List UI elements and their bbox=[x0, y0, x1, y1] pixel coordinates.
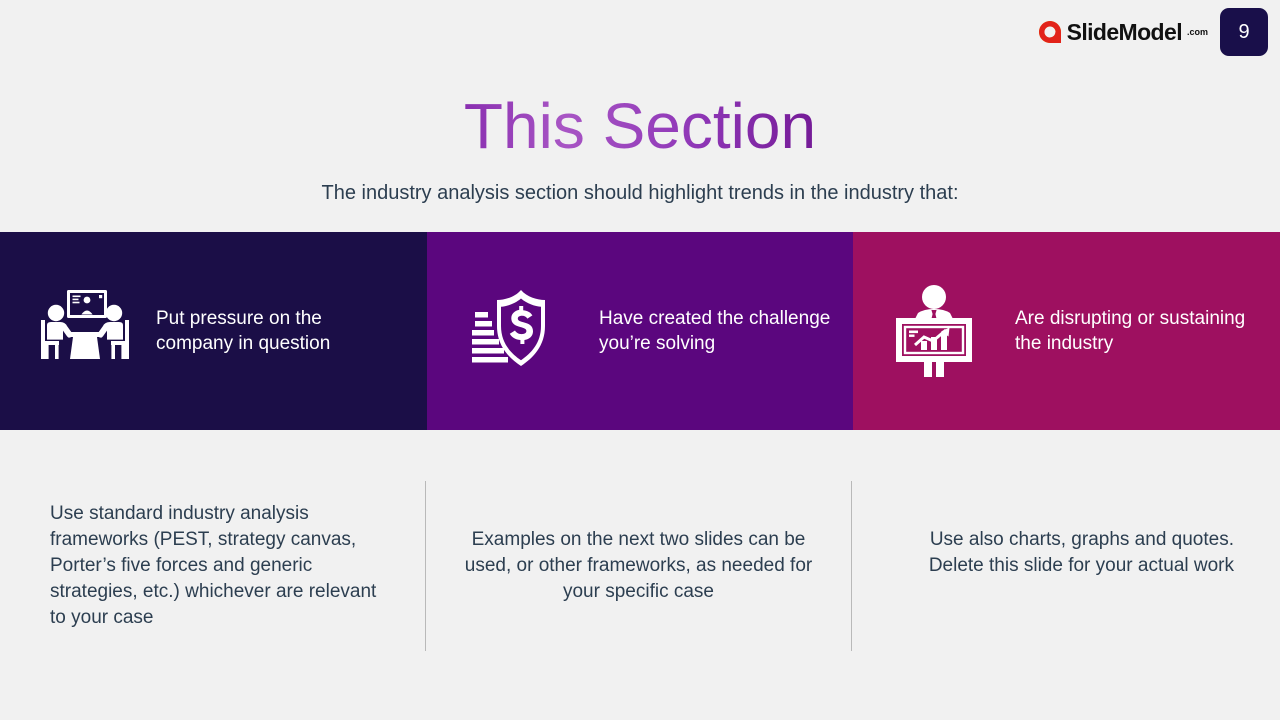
slide-canvas: SlideModel .com 9 This Section The indus… bbox=[0, 0, 1280, 720]
panel-challenge-label: Have created the challenge you’re solvin… bbox=[599, 306, 839, 356]
logo-domain-suffix: .com bbox=[1187, 27, 1208, 37]
page-subtitle: The industry analysis section should hig… bbox=[0, 179, 1280, 207]
shield-dollar-icon bbox=[467, 285, 565, 377]
page-title: This Section bbox=[0, 90, 1280, 162]
panel-row: Put pressure on the company in question bbox=[0, 232, 1280, 430]
notes-row: Use standard industry analysis framework… bbox=[0, 481, 1280, 651]
note-text-frameworks: Use standard industry analysis framework… bbox=[50, 501, 395, 631]
logo-wordmark: SlideModel bbox=[1067, 21, 1182, 44]
note-column-frameworks: Use standard industry analysis framework… bbox=[0, 481, 426, 651]
presenter-chart-board-icon bbox=[885, 285, 983, 377]
panel-disrupting[interactable]: Are disrupting or sustaining the industr… bbox=[853, 232, 1280, 430]
panel-pressure[interactable]: Put pressure on the company in question bbox=[0, 232, 427, 430]
note-text-examples: Examples on the next two slides can be u… bbox=[460, 527, 817, 605]
note-column-examples: Examples on the next two slides can be u… bbox=[426, 481, 852, 651]
panel-disrupting-label: Are disrupting or sustaining the industr… bbox=[1015, 306, 1255, 356]
panel-pressure-label: Put pressure on the company in question bbox=[156, 306, 396, 356]
note-text-charts: Use also charts, graphs and quotes. Dele… bbox=[886, 527, 1234, 579]
slidemodel-circle-mark-icon bbox=[1037, 19, 1063, 45]
note-column-charts: Use also charts, graphs and quotes. Dele… bbox=[852, 481, 1278, 651]
panel-challenge[interactable]: Have created the challenge you’re solvin… bbox=[427, 232, 853, 430]
slide-number-badge: 9 bbox=[1220, 8, 1268, 56]
slidemodel-logo: SlideModel .com bbox=[1037, 15, 1208, 49]
header-brand-area: SlideModel .com 9 bbox=[1037, 8, 1268, 56]
meeting-presentation-icon bbox=[36, 285, 134, 377]
